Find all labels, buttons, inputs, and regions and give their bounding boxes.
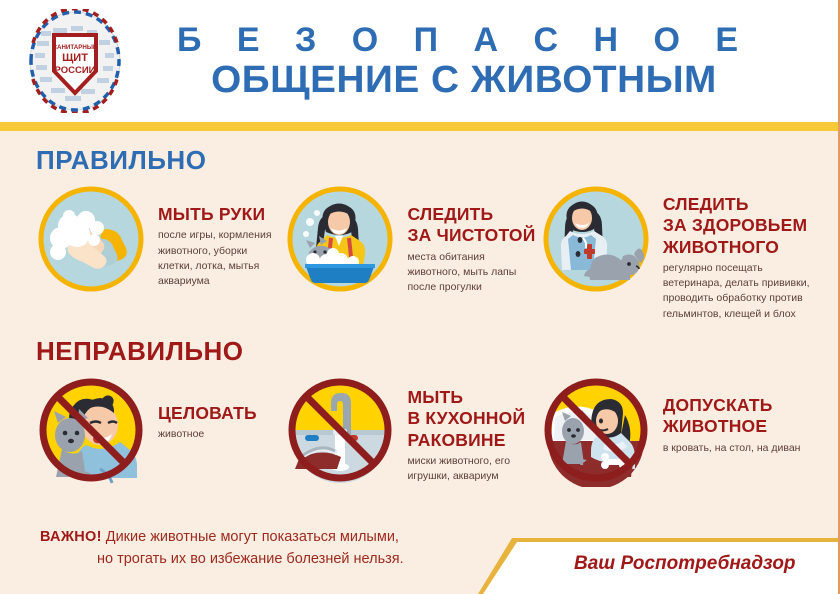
important-label: ВАЖНО!	[40, 529, 102, 545]
card-heading: СЛЕДИТЬ ЗА ЗДОРОВЬЕМ ЖИВОТНОГО	[663, 194, 814, 258]
card-pet-health: СЛЕДИТЬ ЗА ЗДОРОВЬЕМ ЖИВОТНОГО регулярно…	[539, 182, 814, 322]
poster-footer: ВАЖНО! Дикие животные могут показаться м…	[0, 520, 838, 594]
card-text: СЛЕДИТЬ ЗА ЧИСТОТОЙ места обитания живот…	[397, 182, 538, 295]
card-subtext: в кровать, на стол, на диван	[663, 441, 801, 456]
card-heading: ЦЕЛОВАТЬ	[158, 403, 257, 424]
title-line-2: ОБЩЕНИЕ С ЖИВОТНЫМ	[144, 61, 785, 99]
logo-container: САНИТАРНЫЙ ЩИТ РОССИИ	[0, 9, 150, 113]
card-wash-hands: МЫТЬ РУКИ после игры, кормления животног…	[34, 182, 283, 322]
card-no-kissing: ЦЕЛОВАТЬ животное	[34, 373, 283, 487]
svg-text:РОССИИ: РОССИИ	[55, 65, 96, 76]
row-wrong: ЦЕЛОВАТЬ животное	[0, 373, 838, 487]
svg-text:ЩИТ: ЩИТ	[62, 52, 88, 64]
brand-banner: Ваш Роспотребнадзор	[478, 538, 838, 594]
section-title-wrong: НЕПРАВИЛЬНО	[0, 322, 838, 373]
card-text: ДОПУСКАТЬ ЖИВОТНОЕ в кровать, на стол, н…	[653, 373, 801, 456]
poster-header: САНИТАРНЫЙ ЩИТ РОССИИ Б Е З О П А С Н О …	[0, 0, 838, 122]
kissing-pet-prohibited-icon	[34, 373, 148, 487]
poster-title: Б Е З О П А С Н О Е ОБЩЕНИЕ С ЖИВОТНЫМ	[150, 23, 838, 99]
card-no-kitchen-sink: МЫТЬ В КУХОННОЙ РАКОВИНЕ миски животного…	[283, 373, 538, 487]
card-heading: МЫТЬ В КУХОННОЙ РАКОВИНЕ	[407, 387, 538, 451]
title-line-1: Б Е З О П А С Н О Е	[150, 23, 778, 57]
card-text: СЛЕДИТЬ ЗА ЗДОРОВЬЕМ ЖИВОТНОГО регулярно…	[653, 182, 814, 322]
card-text: ЦЕЛОВАТЬ животное	[148, 373, 257, 443]
important-note: ВАЖНО! Дикие животные могут показаться м…	[40, 526, 404, 571]
sanitary-shield-logo-icon: САНИТАРНЫЙ ЩИТ РОССИИ	[27, 9, 123, 113]
washing-pet-icon	[283, 182, 397, 296]
veterinarian-with-dog-icon	[539, 182, 653, 296]
card-heading: СЛЕДИТЬ ЗА ЧИСТОТОЙ	[407, 204, 538, 247]
kitchen-sink-prohibited-icon	[283, 373, 397, 487]
pet-in-bed-prohibited-icon	[539, 373, 653, 487]
card-text: МЫТЬ РУКИ после игры, кормления животног…	[148, 182, 283, 289]
infographic-poster: САНИТАРНЫЙ ЩИТ РОССИИ Б Е З О П А С Н О …	[0, 0, 840, 594]
card-subtext: места обитания животного, мыть лапы посл…	[407, 250, 538, 296]
important-line-2: но трогать их во избежание болезней нель…	[40, 548, 404, 570]
row-correct: МЫТЬ РУКИ после игры, кормления животног…	[0, 182, 838, 322]
brand-label: Ваш Роспотребнадзор	[574, 553, 796, 575]
card-heading: МЫТЬ РУКИ	[158, 204, 283, 225]
card-heading: ДОПУСКАТЬ ЖИВОТНОЕ	[663, 395, 801, 438]
poster-body: ПРАВИЛЬНО	[0, 131, 838, 487]
card-text: МЫТЬ В КУХОННОЙ РАКОВИНЕ миски животного…	[397, 373, 538, 484]
washing-hands-icon	[34, 182, 148, 296]
card-subtext: миски животного, его игрушки, аквариум	[407, 454, 538, 484]
card-subtext: регулярно посещать ветеринара, делать пр…	[663, 261, 814, 322]
card-subtext: животное	[158, 427, 257, 442]
card-subtext: после игры, кормления животного, уборки …	[158, 228, 283, 289]
important-line-1: Дикие животные могут показаться милыми,	[106, 529, 399, 545]
section-title-correct: ПРАВИЛЬНО	[0, 131, 838, 182]
card-no-pet-in-bed: ДОПУСКАТЬ ЖИВОТНОЕ в кровать, на стол, н…	[539, 373, 814, 487]
svg-text:САНИТАРНЫЙ: САНИТАРНЫЙ	[53, 43, 98, 51]
gold-divider-bar	[0, 122, 838, 131]
card-keep-clean: СЛЕДИТЬ ЗА ЧИСТОТОЙ места обитания живот…	[283, 182, 538, 322]
